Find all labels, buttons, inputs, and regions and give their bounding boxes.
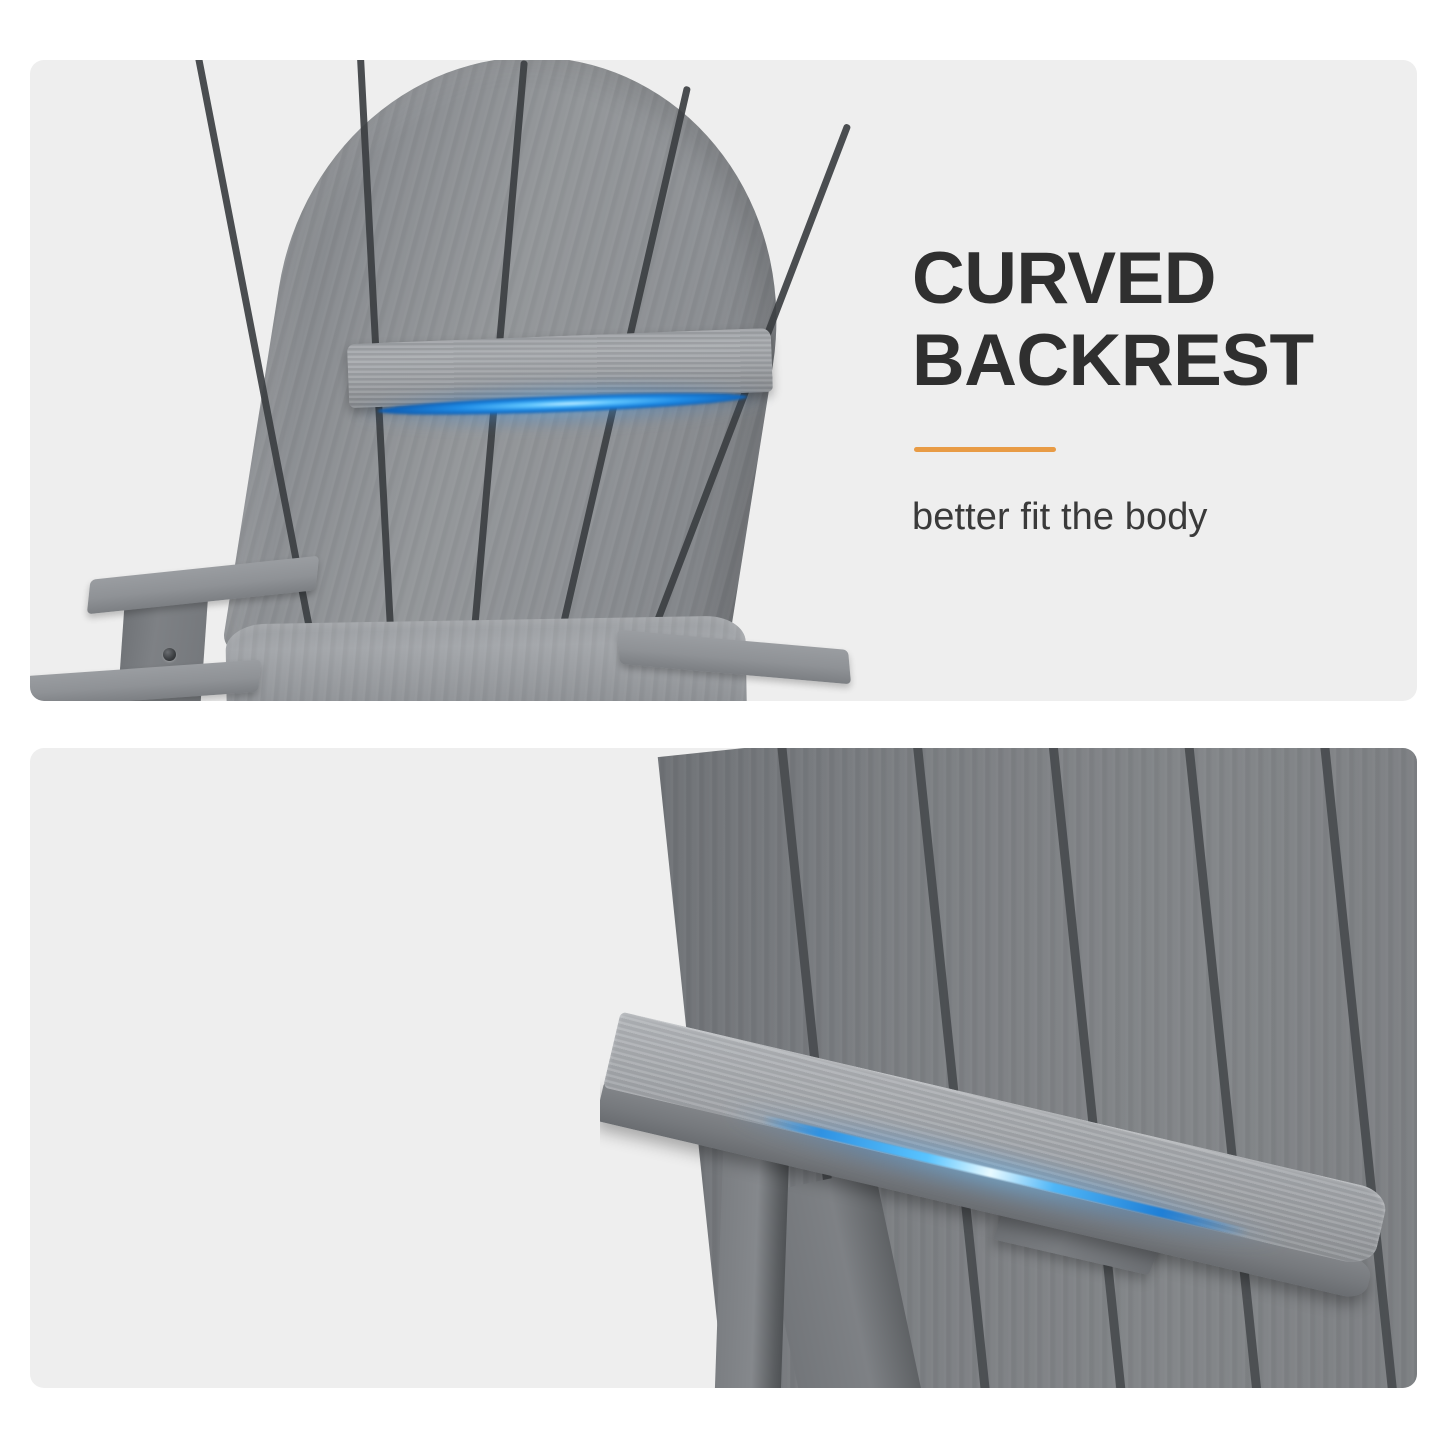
slat-gap (903, 748, 1006, 1388)
feature-subtext: better fit the body (912, 496, 1382, 539)
chair-backrest-photo (30, 60, 900, 701)
feature-panel-curved-backrest: CURVED BACKREST better fit the body (30, 60, 1417, 701)
accent-divider (914, 447, 1056, 452)
screw-icon (163, 648, 176, 661)
feature-panel-wide-armrests: WIDE ARMRESTS for better arm relaxation (30, 748, 1417, 1388)
slat-gap (1172, 748, 1275, 1388)
page-title: CURVED BACKREST (912, 238, 1382, 402)
feature-text-curved-backrest: CURVED BACKREST better fit the body (912, 238, 1382, 539)
slat-gap (1037, 748, 1140, 1388)
chair-armrest-photo (600, 748, 1417, 1388)
infographic-page: CURVED BACKREST better fit the body WIDE… (0, 0, 1445, 1445)
